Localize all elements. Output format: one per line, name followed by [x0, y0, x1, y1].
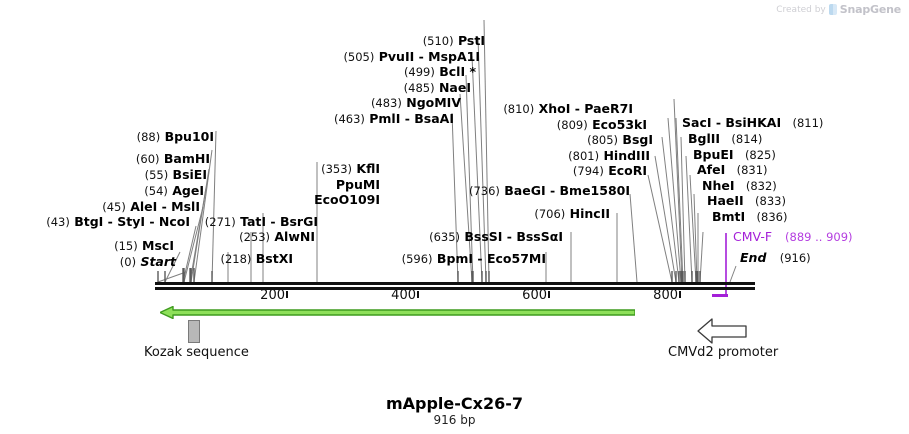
site-label-bsiei[interactable]: (55) BsiEI	[18, 169, 207, 182]
site-label-hindiii[interactable]: (801) HindIII	[480, 150, 650, 163]
site-pos: (831)	[737, 163, 768, 177]
site-pos: (832)	[746, 179, 777, 193]
sequence-map-canvas: Created by SnapGene	[0, 0, 909, 434]
ruler-label-800: 800	[653, 288, 678, 303]
site-names: NgoMIV	[406, 95, 461, 110]
site-pos: (43)	[46, 215, 70, 229]
site-pos: (825)	[745, 148, 776, 162]
site-pos: (499)	[404, 65, 435, 79]
site-pos: (463)	[334, 112, 365, 126]
site-names: XhoI - PaeR7I	[539, 101, 633, 116]
watermark-prefix: Created by	[776, 5, 826, 15]
terminus-pos: (916)	[780, 251, 811, 265]
site-pos: (794)	[573, 164, 604, 178]
site-names: AlwNI	[274, 229, 315, 244]
site-pos: (271)	[205, 215, 236, 229]
site-label-bglii[interactable]: BglII (814)	[688, 133, 762, 146]
site-names: PmlI - BsaAI	[369, 111, 454, 126]
leader-bpuei	[686, 156, 692, 282]
site-label-ngomiv[interactable]: (483) NgoMIV	[290, 97, 461, 110]
site-label-bcli[interactable]: (499) BclI *	[296, 66, 476, 79]
site-pos: (218)	[220, 252, 251, 266]
snapgene-logo-icon	[829, 4, 837, 15]
site-names: BclI *	[439, 64, 476, 79]
site-names: AfeI	[697, 162, 725, 177]
site-pos: (54)	[144, 184, 168, 198]
site-pos: (801)	[568, 149, 599, 163]
site-names: AleI - MslI	[130, 199, 200, 214]
site-pos: (706)	[534, 207, 565, 221]
site-pos: (635)	[429, 230, 460, 244]
site-label-haeii[interactable]: HaeII (833)	[707, 195, 786, 208]
site-label-xhoi-paer7i[interactable]: (810) XhoI - PaeR7I	[460, 103, 633, 116]
site-label-bpu10i[interactable]: (88) Bpu10I	[18, 131, 214, 144]
terminus-name: End	[740, 250, 766, 265]
site-pos: (15)	[114, 239, 138, 253]
ruler-tick-600	[548, 291, 550, 298]
site-label-alei-msli[interactable]: (45) AleI - MslI	[18, 201, 200, 214]
site-pos: (736)	[469, 184, 500, 198]
primer-name: CMV-F	[733, 229, 772, 244]
site-names: BglII	[688, 131, 720, 146]
site-names: BaeGI - Bme1580I	[504, 183, 630, 198]
leader-afei	[690, 175, 696, 282]
site-pos: (810)	[503, 102, 534, 116]
site-label-afei[interactable]: AfeI (831)	[697, 164, 768, 177]
site-pos: (253)	[239, 230, 270, 244]
site-pos: (485)	[404, 81, 435, 95]
site-label-baegi-bme1580i[interactable]: (736) BaeGI - Bme1580I	[390, 185, 630, 198]
site-names: AgeI	[172, 183, 204, 198]
ruler-label-400: 400	[391, 288, 416, 303]
site-names: BamHI	[164, 151, 210, 166]
site-pos: (805)	[587, 133, 618, 147]
site-pos: (55)	[145, 168, 169, 182]
site-names: BsiEI	[173, 167, 207, 182]
site-pos: (60)	[136, 152, 160, 166]
leader-baegi	[630, 194, 637, 282]
site-label-bmti[interactable]: BmtI (836)	[712, 211, 787, 224]
leader-bsgi	[662, 137, 679, 282]
primer-feature-bar-cmv-f[interactable]	[712, 294, 728, 297]
site-pos: (505)	[343, 50, 374, 64]
site-names: PpuMI	[336, 177, 380, 192]
terminus-label-end[interactable]: End (916)	[740, 252, 811, 265]
site-names: PvuII - MspA1I	[379, 49, 480, 64]
leader-ecori	[648, 175, 672, 282]
leader-eco53ki	[668, 118, 681, 282]
site-pos: (45)	[102, 200, 126, 214]
site-names: HindIII	[603, 148, 650, 163]
site-pos: (811)	[792, 116, 823, 130]
site-label-nhei[interactable]: NheI (832)	[702, 180, 777, 193]
site-label-hincii[interactable]: (706) HincII	[440, 208, 610, 221]
leader-start	[158, 272, 186, 282]
map-length: 916 bp	[0, 413, 909, 427]
leader-nhei	[694, 194, 697, 282]
site-pos: (596)	[402, 252, 433, 266]
site-names: PstI	[458, 33, 485, 48]
site-names: HincII	[570, 206, 610, 221]
site-label-bstxi[interactable]: (218) BstXI	[150, 253, 293, 266]
site-names: BsgI	[622, 132, 653, 147]
site-names: HaeII	[707, 193, 744, 208]
site-names: BpmI - Eco57MI	[437, 251, 546, 266]
map-title: mApple-Cx26-7	[0, 394, 909, 413]
site-names: EcoRI	[608, 163, 647, 178]
ruler-tick-400	[417, 291, 419, 298]
terminus-pos: (0)	[120, 255, 136, 269]
site-pos: (483)	[371, 96, 402, 110]
site-names: KflI	[356, 161, 380, 176]
ruler-bar-top	[155, 282, 755, 285]
snapgene-watermark: Created by SnapGene	[776, 3, 901, 16]
site-label-bpmi-eco57mi[interactable]: (596) BpmI - Eco57MI	[370, 253, 546, 266]
site-pos: (814)	[731, 132, 762, 146]
cmvd2-promoter-caption: CMVd2 promoter	[668, 345, 778, 360]
site-names: TatI - BsrGI	[240, 214, 318, 229]
site-label-pvuii-mspa1i[interactable]: (505) PvuII - MspA1I	[296, 51, 480, 64]
site-pos: (833)	[755, 194, 786, 208]
mapple-cds-arrow[interactable]	[160, 306, 635, 319]
cmvd2-promoter-arrow[interactable]	[697, 318, 747, 344]
leader-bglii	[681, 137, 685, 282]
leader-saci	[676, 118, 683, 282]
site-pos: (88)	[137, 130, 161, 144]
primer-label-cmv-f[interactable]: CMV-F (889 .. 909)	[733, 231, 853, 244]
site-label-kfli[interactable]: (353) KflI	[240, 163, 380, 176]
site-names: NaeI	[439, 80, 471, 95]
site-pos: (510)	[423, 34, 454, 48]
ruler-label-200: 200	[260, 288, 285, 303]
leader-xhoi	[674, 99, 682, 282]
site-names: Eco53kI	[592, 117, 647, 132]
site-names: Bpu10I	[165, 129, 214, 144]
site-label-bpuei[interactable]: BpuEI (825)	[693, 149, 776, 162]
site-names: BstXI	[256, 251, 293, 266]
site-label-saci-bsihkai[interactable]: SacI - BsiHKAI (811)	[682, 117, 823, 130]
site-names: SacI - BsiHKAI	[682, 115, 781, 130]
site-label-ecoo109i[interactable]: EcoO109I	[240, 194, 380, 207]
kozak-sequence-caption: Kozak sequence	[144, 345, 249, 360]
site-label-alwni[interactable]: (253) AlwNI	[150, 231, 315, 244]
site-label-bsssi-bsssai[interactable]: (635) BssSI - BssSαI	[390, 231, 563, 244]
site-label-bsgi[interactable]: (805) BsgI	[490, 134, 653, 147]
site-pos: (809)	[557, 118, 588, 132]
site-label-pmli-bsaai[interactable]: (463) PmlI - BsaAI	[286, 113, 454, 126]
site-pos: (353)	[321, 162, 352, 176]
ruler-tick-800	[679, 291, 681, 298]
leader-bmti	[700, 232, 703, 282]
site-label-bamhi[interactable]: (60) BamHI	[18, 153, 210, 166]
site-label-eco53ki[interactable]: (809) Eco53kI	[480, 119, 647, 132]
primer-range: (889 .. 909)	[785, 230, 853, 244]
site-label-tati-bsrgi[interactable]: (271) TatI - BsrGI	[150, 216, 318, 229]
ruler-label-600: 600	[522, 288, 547, 303]
site-label-ppumi[interactable]: PpuMI	[240, 179, 380, 192]
site-label-naei[interactable]: (485) NaeI	[296, 82, 471, 95]
site-names: EcoO109I	[314, 192, 380, 207]
leader-hindiii	[655, 156, 676, 282]
site-names: NheI	[702, 178, 735, 193]
watermark-brand: SnapGene	[840, 3, 901, 16]
site-names: BssSI - BssSαI	[464, 229, 563, 244]
kozak-sequence-feature[interactable]	[188, 320, 200, 343]
site-names: BmtI	[712, 209, 745, 224]
leader-end	[730, 266, 736, 282]
site-names: BpuEI	[693, 147, 734, 162]
ruler-tick-200	[286, 291, 288, 298]
site-label-psti[interactable]: (510) PstI	[300, 35, 485, 48]
site-label-agei[interactable]: (54) AgeI	[18, 185, 204, 198]
site-pos: (836)	[757, 210, 788, 224]
site-label-ecori[interactable]: (794) EcoRI	[480, 165, 647, 178]
